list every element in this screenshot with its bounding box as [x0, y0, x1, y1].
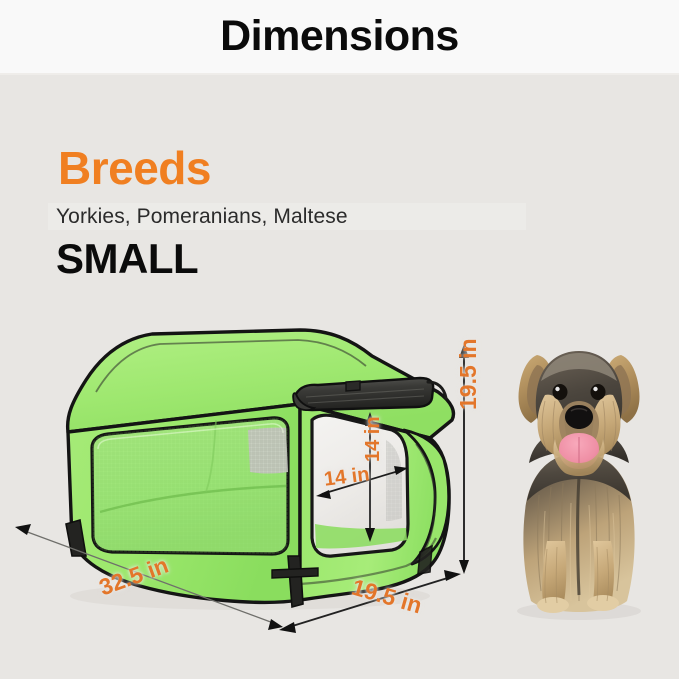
dog-eye-right	[591, 384, 606, 400]
dog-eye-left-highlight	[555, 387, 559, 391]
dimension-label-door-width: 14 in	[323, 463, 371, 491]
dog-eye-left	[553, 384, 568, 400]
dimension-label-depth: 32.5 in	[96, 552, 173, 602]
dog-chest-parting	[578, 477, 580, 595]
dog-paw-right	[587, 595, 619, 611]
dog-eye-right-highlight	[593, 387, 597, 391]
yorkshire-terrier-illustration	[493, 335, 665, 627]
dimension-label-width: 19.5 in	[349, 574, 425, 620]
dimension-label-door-height: 14 in	[362, 416, 385, 462]
dog-paw-left	[537, 597, 569, 613]
dog-photo	[493, 335, 665, 627]
dimension-label-height: 19.5 in	[455, 338, 482, 410]
infographic-canvas: Dimensions Breeds Yorkies, Pomeranians, …	[0, 0, 679, 679]
